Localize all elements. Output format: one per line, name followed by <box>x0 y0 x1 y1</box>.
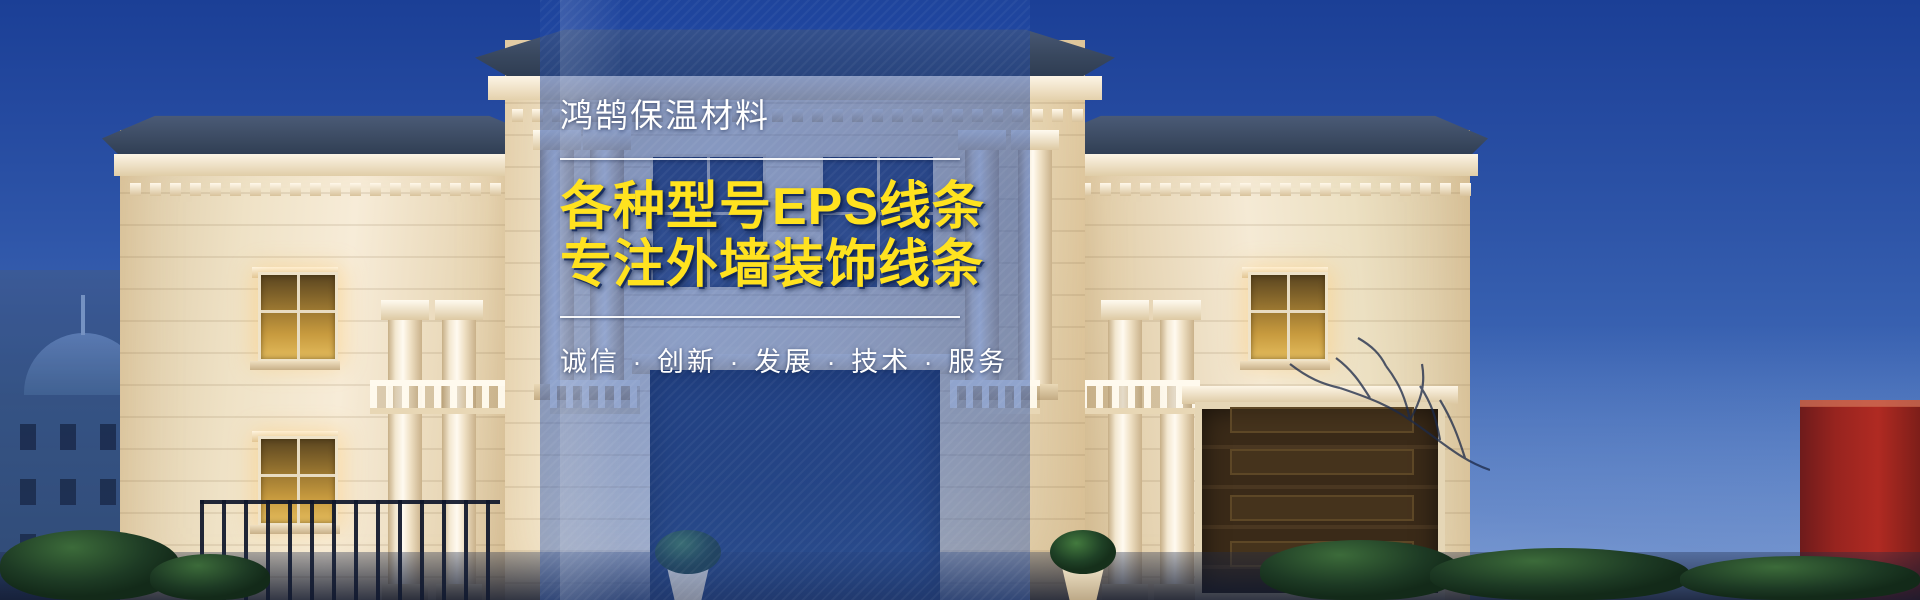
shrub <box>0 530 180 600</box>
tagline-item-1: 诚信 <box>560 347 620 377</box>
distant-window <box>20 479 36 505</box>
planter-bush <box>1050 530 1116 574</box>
distant-window <box>100 424 116 450</box>
tagline: 诚信 · 创新 · 发展 · 技术 · 服务 <box>560 340 1020 379</box>
shrub <box>1680 556 1920 600</box>
tree-branch <box>1260 300 1490 490</box>
headline: 各种型号EPS线条 专注外墙装饰线条 <box>560 178 1020 294</box>
divider-top <box>560 158 960 160</box>
distant-window <box>20 424 36 450</box>
banner-text-block: 鸿鹄保温材料 各种型号EPS线条 专注外墙装饰线条 诚信 · 创新 · 发展 ·… <box>560 96 1020 379</box>
villa-left-cornice <box>114 154 532 176</box>
tagline-item-5: 服务 <box>948 347 1008 377</box>
tagline-separator: · <box>728 347 744 377</box>
dentil-row <box>130 183 521 196</box>
distant-window <box>60 424 76 450</box>
window-sill <box>250 361 340 370</box>
tagline-separator: · <box>825 347 841 377</box>
balustrade <box>370 380 520 414</box>
headline-line-2: 专注外墙装饰线条 <box>560 236 1020 294</box>
shrub <box>150 554 270 600</box>
hero-banner: 鸿鹄保温材料 各种型号EPS线条 专注外墙装饰线条 诚信 · 创新 · 发展 ·… <box>0 0 1920 600</box>
headline-line-1: 各种型号EPS线条 <box>560 178 1020 236</box>
tagline-separator: · <box>922 347 938 377</box>
distant-window <box>60 479 76 505</box>
shrub <box>1430 548 1690 600</box>
villa-right-roof <box>1048 112 1488 160</box>
villa-left-roof <box>102 112 542 160</box>
distant-window <box>100 479 116 505</box>
brand-name: 鸿鹄保温材料 <box>560 96 1020 136</box>
dentil-row <box>1080 183 1471 196</box>
tagline-item-4: 技术 <box>851 347 911 377</box>
tagline-item-3: 发展 <box>754 347 814 377</box>
villa-right-cornice <box>1060 154 1478 176</box>
lit-window <box>258 272 338 362</box>
divider-bottom <box>560 316 960 318</box>
tagline-separator: · <box>631 347 647 377</box>
tagline-item-2: 创新 <box>657 347 717 377</box>
